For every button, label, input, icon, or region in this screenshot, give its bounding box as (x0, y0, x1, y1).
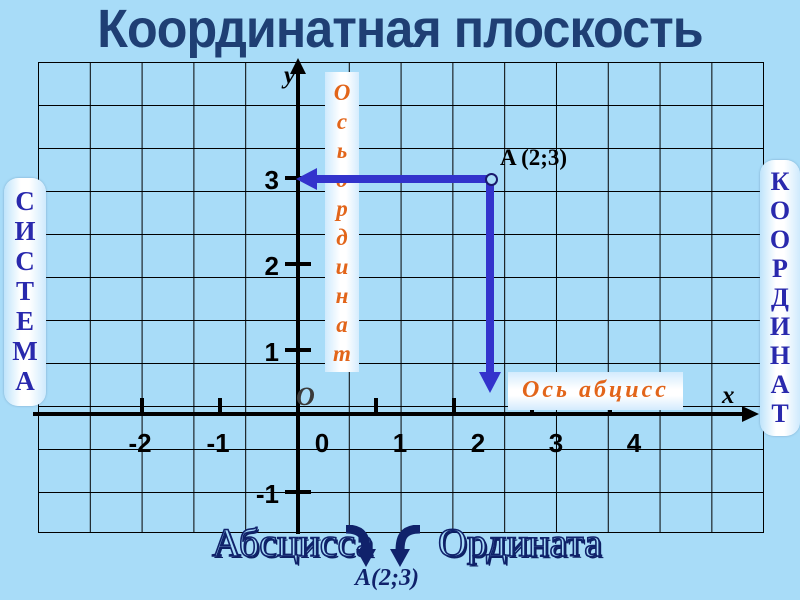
projection-line-horizontal (314, 175, 492, 183)
callout-koordinat: К О О Р Д И Н А Т (760, 160, 800, 436)
x-label-minus1: -1 (186, 428, 250, 459)
slide-canvas: Координатная плоскость -2 -1 0 1 2 3 4 3… (0, 0, 800, 600)
ordinate-axis-name: О с ь о р д и н а т (325, 72, 359, 372)
y-label-2: 2 (243, 251, 279, 282)
callout-sistema: С И С Т Е М А (4, 178, 46, 406)
x-label-4: 4 (617, 428, 651, 459)
callout-koordinat-letter-5: И (760, 312, 800, 341)
x-tick-1 (374, 398, 378, 415)
callout-sistema-letter-3: Т (4, 276, 46, 306)
callout-koordinat-letter-4: Д (760, 283, 800, 312)
callout-sistema-letter-1: И (4, 216, 46, 246)
y-label-1: 1 (243, 337, 279, 368)
ordinate-letter-2: ь (325, 136, 359, 165)
x-tick-2 (452, 398, 456, 415)
ordinate-letter-9: т (325, 339, 359, 368)
page-title: Координатная плоскость (28, 0, 772, 60)
y-tick-2 (285, 262, 311, 266)
projection-arrow-to-x-axis (479, 372, 501, 393)
x-label-minus2: -2 (108, 428, 172, 459)
callout-koordinat-letter-0: К (760, 167, 800, 196)
callout-koordinat-letter-7: А (760, 370, 800, 399)
x-label-0: 0 (305, 428, 339, 459)
point-a-marker (485, 173, 498, 186)
y-tick-1 (285, 348, 311, 352)
ordinate-letter-8: а (325, 310, 359, 339)
projection-arrow-to-y-axis (296, 168, 317, 190)
callout-sistema-letter-6: А (4, 366, 46, 396)
x-axis-letter: x (722, 382, 735, 410)
x-axis-arrowhead (742, 406, 759, 422)
y-axis-letter: y (284, 62, 295, 90)
x-label-2: 2 (461, 428, 495, 459)
y-axis-line (296, 72, 300, 534)
callout-koordinat-letter-3: Р (760, 254, 800, 283)
projection-line-vertical (486, 179, 494, 377)
abscissa-axis-name: Ось абцисс (508, 372, 683, 410)
x-tick-minus2 (140, 398, 144, 415)
callout-sistema-letter-2: С (4, 246, 46, 276)
ordinate-letter-0: О (325, 78, 359, 107)
y-tick-minus1 (285, 490, 311, 494)
ordinate-letter-5: д (325, 223, 359, 252)
origin-letter: О (296, 382, 315, 412)
y-label-3: 3 (243, 165, 279, 196)
callout-sistema-letter-4: Е (4, 306, 46, 336)
callout-sistema-letter-5: М (4, 336, 46, 366)
abscissa-axis-name-text: Ось абцисс (522, 377, 669, 403)
callout-koordinat-letter-1: О (760, 196, 800, 225)
y-label-minus1: -1 (235, 479, 279, 510)
ordinate-letter-6: и (325, 252, 359, 281)
callout-sistema-letter-0: С (4, 186, 46, 216)
ordinate-letter-4: р (325, 194, 359, 223)
callout-koordinat-letter-8: Т (760, 399, 800, 428)
x-label-1: 1 (383, 428, 417, 459)
pointer-arrows-icon (340, 525, 480, 573)
x-tick-minus1 (218, 398, 222, 415)
coordinate-grid (38, 62, 764, 533)
ordinate-letter-7: н (325, 281, 359, 310)
ordinate-letter-1: с (325, 107, 359, 136)
point-a-label: A (2;3) (500, 145, 567, 171)
x-label-3: 3 (539, 428, 573, 459)
callout-koordinat-letter-6: Н (760, 341, 800, 370)
callout-koordinat-letter-2: О (760, 225, 800, 254)
